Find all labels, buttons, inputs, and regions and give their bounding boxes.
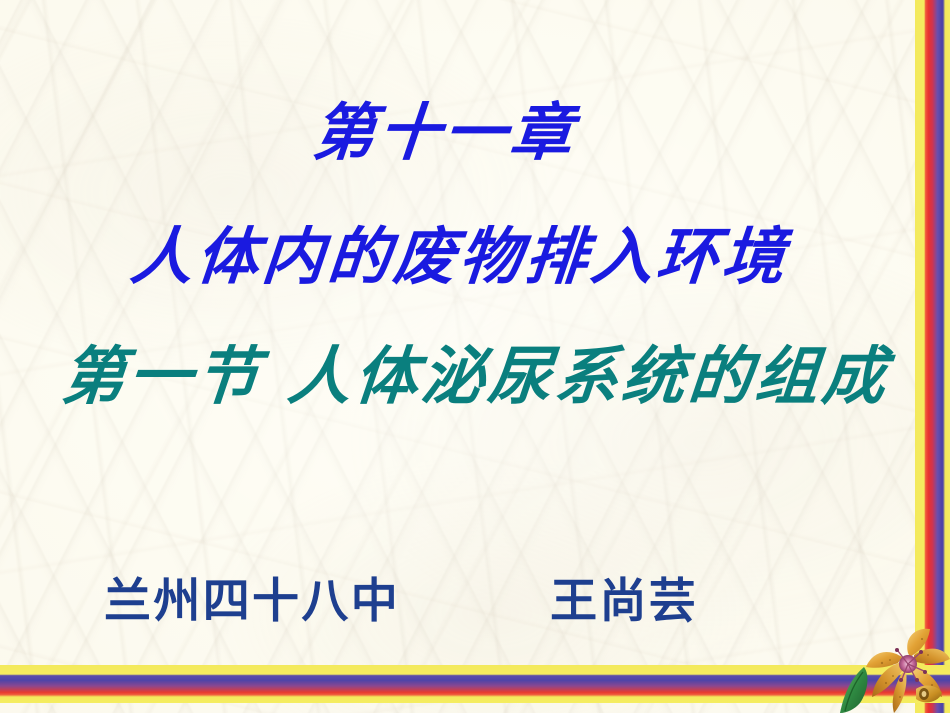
presentation-slide: 第十一章 人体内的废物排入环境 第一节 人体泌尿系统的组成 兰州四十八中 王尚芸 bbox=[0, 0, 950, 713]
credit-row: 兰州四十八中 王尚芸 bbox=[104, 562, 824, 631]
chapter-heading: 第十一章 bbox=[0, 82, 894, 172]
bottom-rainbow-border bbox=[0, 665, 950, 703]
credit-school-name: 兰州四十八中 bbox=[104, 562, 400, 631]
title-block: 第十一章 人体内的废物排入环境 第一节 人体泌尿系统的组成 兰州四十八中 王尚芸 bbox=[0, 0, 950, 713]
right-rainbow-border bbox=[915, 0, 950, 713]
section-title-heading: 第一节 人体泌尿系统的组成 bbox=[40, 326, 912, 417]
credit-author-name: 王尚芸 bbox=[550, 562, 698, 631]
chapter-title-heading: 人体内的废物排入环境 bbox=[0, 206, 924, 296]
